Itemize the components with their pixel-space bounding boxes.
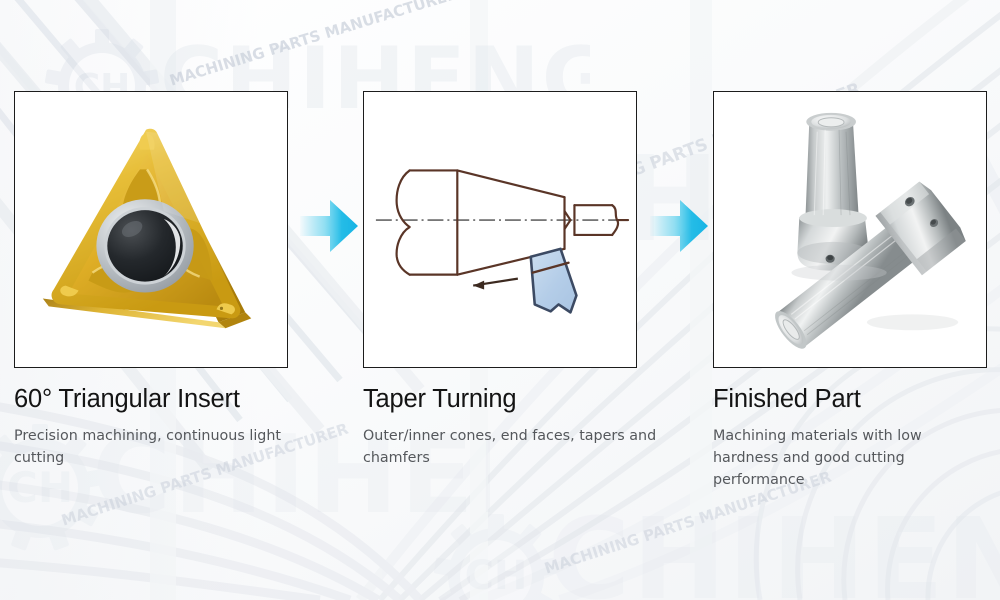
watermark-tagline-top: MACHINING PARTS MANUFACTURER xyxy=(167,0,460,90)
process-arrow-1 xyxy=(300,196,358,256)
step-3-title: Finished Part xyxy=(713,385,985,414)
watermark-lower-right: CH CHIHENG xyxy=(430,480,1000,600)
arrow-right-icon xyxy=(300,196,358,256)
step-2-image-panel xyxy=(363,91,637,368)
watermark-monogram: CH xyxy=(7,463,73,512)
step-1-title: 60° Triangular Insert xyxy=(14,385,314,414)
step-3-caption: Finished Part Machining materials with l… xyxy=(713,385,985,491)
step-1-caption: 60° Triangular Insert Precision machinin… xyxy=(14,385,314,470)
taper-turning-diagram xyxy=(364,92,636,367)
process-arrow-2 xyxy=(650,196,708,256)
step-2-title: Taper Turning xyxy=(363,385,673,414)
triangular-carbide-insert-photo xyxy=(15,92,287,367)
step-1-image-panel xyxy=(14,91,288,368)
watermark-monogram: CH xyxy=(465,553,528,599)
watermark-lower-right-graphic: CH CHIHENG xyxy=(430,480,1000,600)
gear-icon: CH xyxy=(434,514,559,600)
step-3-description: Machining materials with low hardness an… xyxy=(713,426,985,491)
finished-steel-parts-photo xyxy=(714,92,986,367)
step-3-image-panel xyxy=(713,91,987,368)
step-2-caption: Taper Turning Outer/inner cones, end fac… xyxy=(363,385,673,470)
step-2-description: Outer/inner cones, end faces, tapers and… xyxy=(363,426,673,469)
step-1-description: Precision machining, continuous light cu… xyxy=(14,426,314,469)
process-infographic: CH CHIHENG MACHINING PARTS MANUFACTURER xyxy=(0,0,1000,600)
arrow-right-icon xyxy=(650,196,708,256)
